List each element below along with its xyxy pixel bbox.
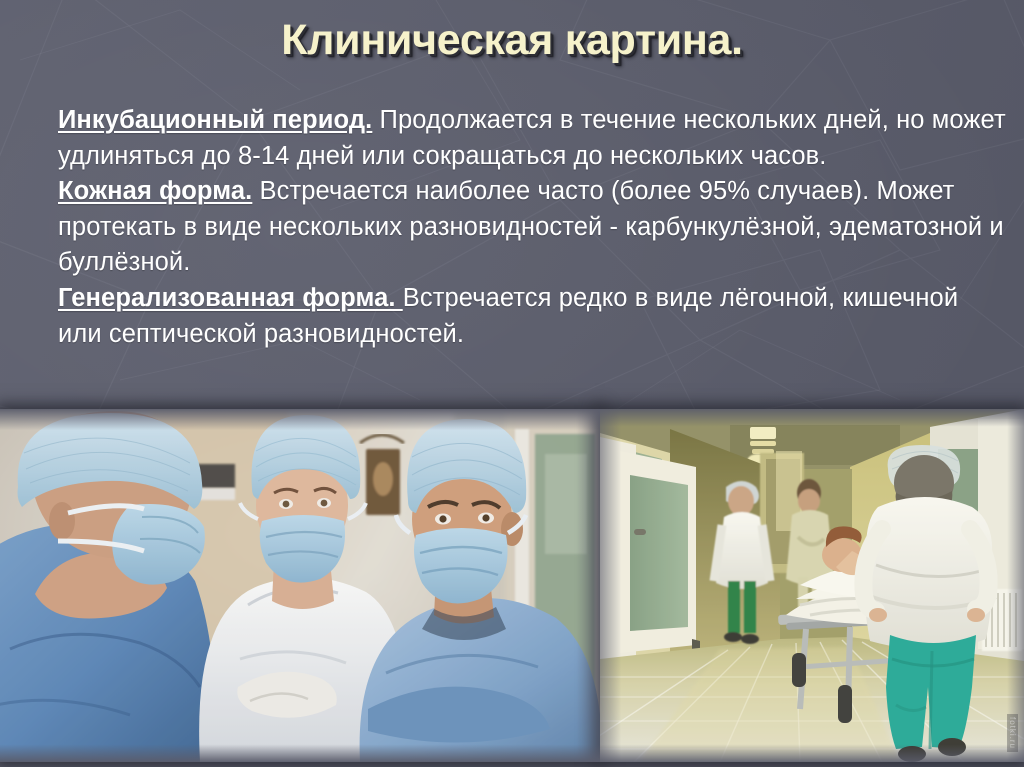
paragraph-generalized-form: Генерализованная форма. Встречается редк… <box>58 281 1008 352</box>
paragraph-incubation-period: Инкубационный период. Продолжается в теч… <box>58 103 1008 174</box>
paragraph-cutaneous-form: Кожная форма. Встречается наиболее часто… <box>58 174 1008 281</box>
slide-canvas: Клиническая картина. Инкубационный перио… <box>0 0 1024 767</box>
photo-strip: fotki.ru <box>0 409 1024 767</box>
hospital-corridor-photo: fotki.ru <box>600 409 1024 762</box>
paragraph-lead-incubation-period: Инкубационный период. <box>58 106 372 134</box>
slide-title-bar: Клиническая картина. <box>0 14 1024 66</box>
paragraph-lead-cutaneous-form: Кожная форма. <box>58 177 252 205</box>
photo-watermark: fotki.ru <box>1007 714 1018 752</box>
slide-body-text: Инкубационный период. Продолжается в теч… <box>58 103 1008 352</box>
slide-title: Клиническая картина. <box>281 14 743 66</box>
paragraph-lead-generalized-form: Генерализованная форма. <box>58 284 403 312</box>
surgical-team-photo <box>0 409 600 762</box>
